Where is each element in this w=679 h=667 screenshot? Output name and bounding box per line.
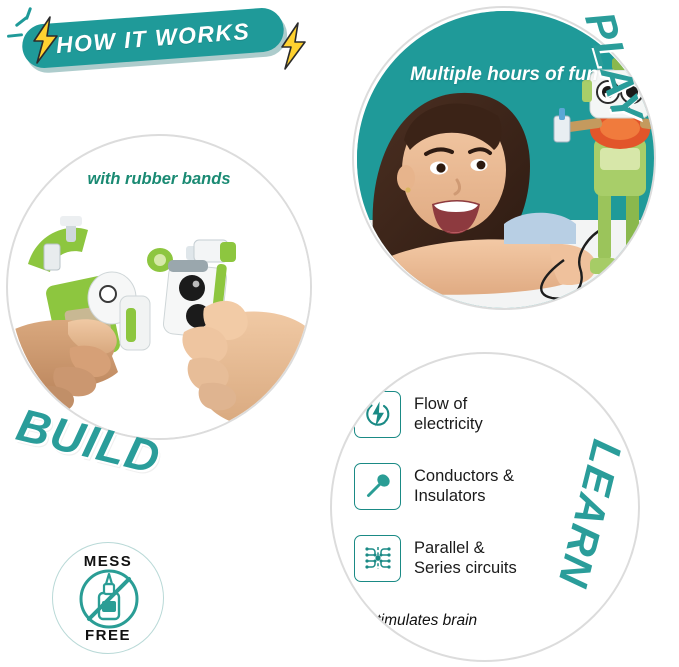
learn-item-label: Conductors & Insulators <box>414 466 514 506</box>
page-title: HOW IT WORKS <box>21 6 286 69</box>
learn-item-label: Flow of electricity <box>414 394 483 434</box>
parallel-series-circuit-icon-box <box>354 535 401 582</box>
learn-item-flow-of-electricity: Flow of electricity <box>354 378 602 450</box>
learn-item-label: Parallel & Series circuits <box>414 538 517 578</box>
flow-of-electricity-icon-box <box>354 391 401 438</box>
flow-of-electricity-icon <box>363 399 393 429</box>
how-it-works-banner: HOW IT WORKS <box>21 6 286 69</box>
build-panel: with rubber bands <box>6 134 312 440</box>
learn-footnote: Stimulates brain <box>366 612 477 630</box>
conductors-insulators-spoon-icon <box>363 471 393 501</box>
mess-free-badge: MESS FREE <box>52 542 164 654</box>
conductors-insulators-icon-box <box>354 463 401 510</box>
build-caption: with rubber bands <box>8 170 310 189</box>
no-glue-icon <box>72 567 146 631</box>
parallel-series-circuit-icon <box>363 543 393 573</box>
